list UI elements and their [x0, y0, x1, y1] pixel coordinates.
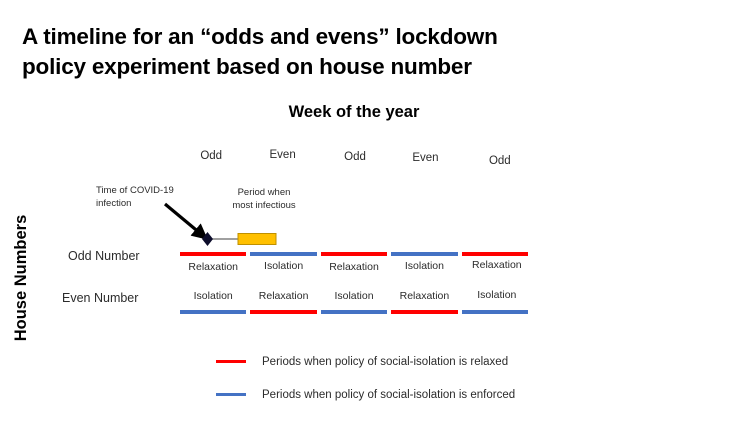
timeline-segment[interactable]: Isolation [389, 248, 459, 278]
y-axis-title: House Numbers [12, 208, 34, 348]
column-label-row: Odd Even Odd Even Odd [178, 148, 530, 160]
row-label-odd-number: Odd Number [68, 249, 140, 263]
segment-label: Isolation [178, 290, 248, 302]
segment-label: Relaxation [389, 290, 459, 302]
legend-swatch-red-icon [216, 360, 246, 364]
segment-bar [321, 252, 387, 256]
annotation-time-of-infection: Time of COVID-19 infection [96, 184, 188, 211]
timeline-segment[interactable]: Relaxation [460, 248, 530, 278]
legend-label: Periods when policy of social-isolation … [262, 389, 515, 401]
timeline-row-even: Isolation Relaxation Isolation Relaxatio… [178, 288, 530, 318]
timeline-segment[interactable]: Relaxation [178, 248, 248, 278]
timeline-segment[interactable]: Isolation [178, 288, 248, 318]
timeline-segment[interactable]: Relaxation [319, 248, 389, 278]
page-title: A timeline for an “odds and evens” lockd… [22, 22, 642, 81]
legend: Periods when policy of social-isolation … [216, 345, 515, 411]
segment-bar [391, 310, 457, 314]
column-label-1: Odd [176, 150, 246, 162]
segment-bar [180, 252, 246, 256]
row-label-even-number: Even Number [62, 291, 138, 305]
timeline-segment[interactable]: Isolation [460, 288, 530, 318]
segment-bar [250, 310, 316, 314]
segment-label: Isolation [319, 290, 389, 302]
segment-label: Isolation [462, 289, 532, 301]
column-label-5: Odd [465, 155, 535, 167]
column-label-2: Even [247, 149, 317, 161]
legend-item-relaxed: Periods when policy of social-isolation … [216, 345, 515, 378]
segment-bar [180, 310, 246, 314]
page-title-line-1: A timeline for an “odds and evens” lockd… [22, 22, 642, 52]
legend-swatch-blue-icon [216, 393, 246, 397]
column-label-3: Odd [320, 151, 390, 163]
segment-label: Relaxation [462, 259, 532, 271]
segment-label: Isolation [248, 260, 318, 272]
segment-label: Relaxation [178, 261, 248, 273]
segment-label: Relaxation [248, 290, 318, 302]
segment-bar [321, 310, 387, 314]
segment-label: Relaxation [319, 261, 389, 273]
timeline-segment[interactable]: Isolation [319, 288, 389, 318]
timeline-segment[interactable]: Relaxation [248, 288, 318, 318]
timeline-row-odd: Relaxation Isolation Relaxation Isolatio… [178, 248, 530, 278]
segment-bar [462, 310, 528, 314]
column-label-4: Even [390, 152, 460, 164]
timeline-chart: Relaxation Isolation Relaxation Isolatio… [178, 248, 530, 318]
legend-label: Periods when policy of social-isolation … [262, 356, 508, 368]
x-axis-title: Week of the year [178, 103, 530, 122]
infection-diamond-icon [202, 232, 213, 246]
legend-item-enforced: Periods when policy of social-isolation … [216, 378, 515, 411]
page-title-line-2: policy experiment based on house number [22, 52, 642, 82]
timeline-segment[interactable]: Isolation [248, 248, 318, 278]
annotation-most-infectious: Period when most infectious [232, 186, 296, 213]
segment-bar [391, 252, 457, 256]
most-infectious-bar [238, 234, 276, 245]
segment-bar [250, 252, 316, 256]
timeline-segment[interactable]: Relaxation [389, 288, 459, 318]
segment-label: Isolation [389, 260, 459, 272]
segment-bar [462, 252, 528, 256]
